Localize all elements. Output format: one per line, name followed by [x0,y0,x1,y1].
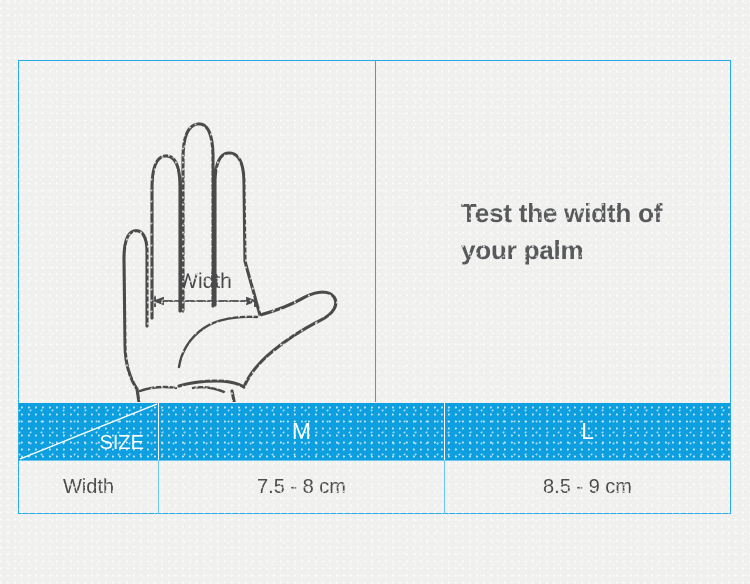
body-separator-2 [444,461,445,514]
hand-diagram-panel: Width [19,61,375,402]
row-label-width: Width [19,461,158,514]
body-separator-1 [158,461,159,514]
hand-palm-outline-icon: Width [19,61,375,402]
header-label-size: SIZE [100,432,144,455]
header-cell-m: M [159,403,444,460]
header-cell-l: L [445,403,730,460]
cell-width-l: 8.5 - 9 cm [445,461,730,514]
header-separator-2 [444,403,445,460]
header-separator-1 [158,403,159,460]
size-table: SIZE M L Width 7.5 - 8 cm 8.5 - 9 cm [19,403,730,514]
instruction-headline: Test the width of your palm [376,195,730,269]
upper-region: Width Test the width of your palm [19,61,730,402]
cell-width-m: 7.5 - 8 cm [159,461,444,514]
header-cell-size: SIZE [19,403,158,460]
size-table-header-row: SIZE M L [19,403,730,460]
table-row: Width 7.5 - 8 cm 8.5 - 9 cm [19,461,730,514]
width-measure-label: Width [178,270,232,293]
size-chart-card: Width Test the width of your palm SIZE M… [18,60,731,514]
instruction-panel: Test the width of your palm [376,61,730,402]
